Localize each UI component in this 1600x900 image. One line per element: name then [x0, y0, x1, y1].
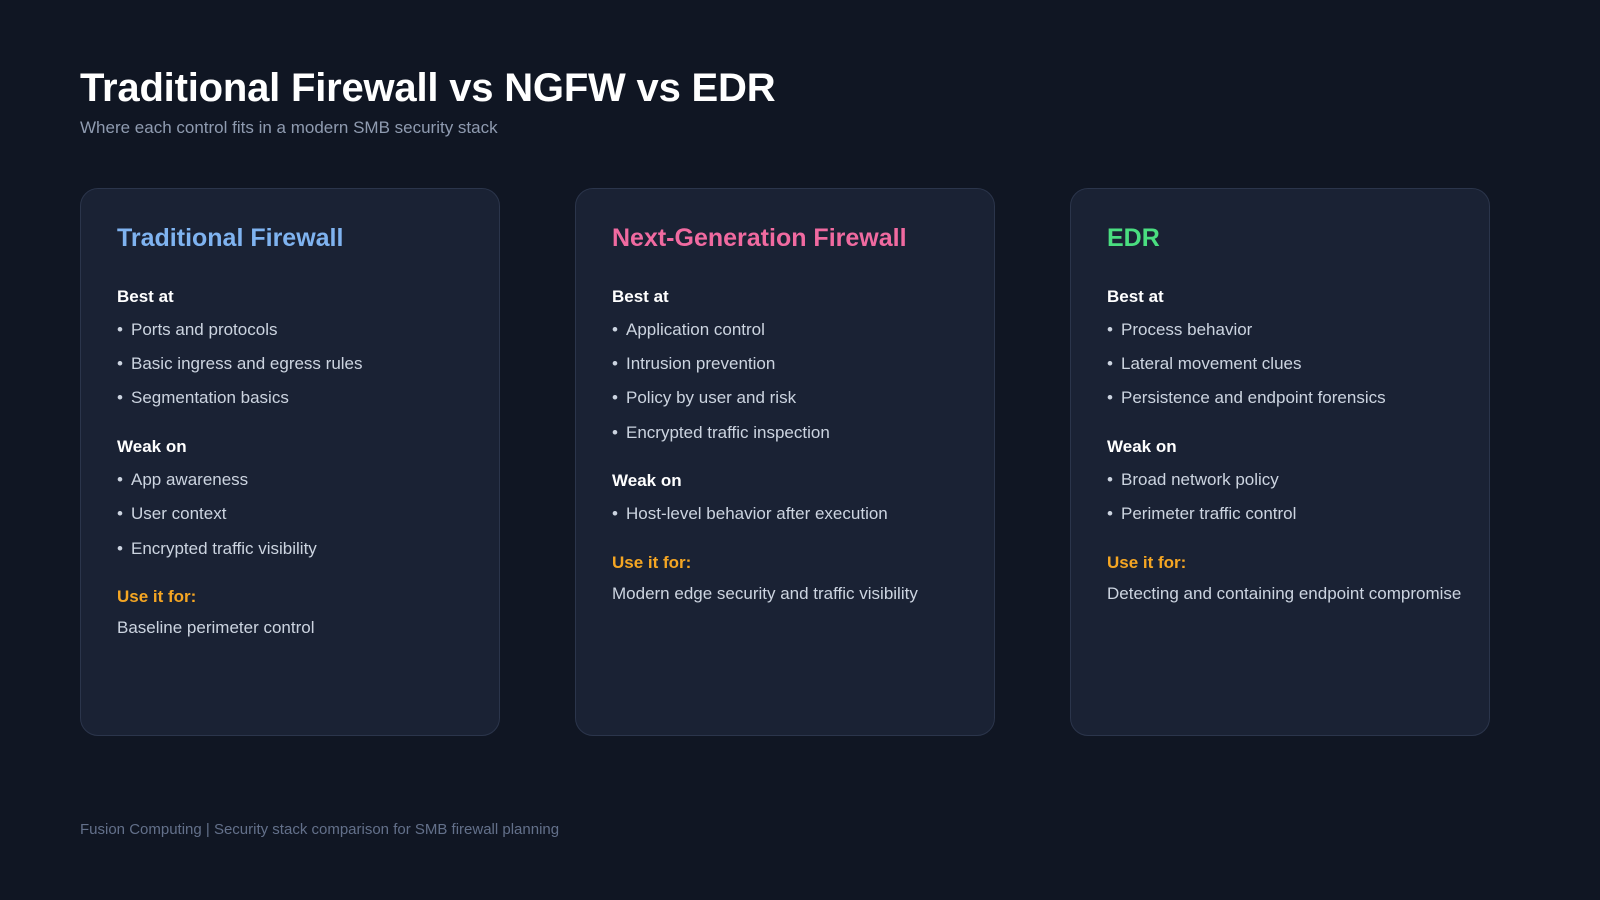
weak-on-list: •App awareness•User context•Encrypted tr…	[117, 469, 463, 559]
bullet-dot-icon: •	[612, 319, 626, 340]
page-subtitle: Where each control fits in a modern SMB …	[80, 118, 1520, 138]
bullet-dot-icon: •	[1107, 503, 1121, 524]
bullet-dot-icon: •	[612, 422, 626, 443]
bullet-dot-icon: •	[612, 503, 626, 524]
bullet-dot-icon: •	[612, 353, 626, 374]
slide-header: Traditional Firewall vs NGFW vs EDR Wher…	[80, 66, 1520, 138]
footer-note: Fusion Computing | Security stack compar…	[80, 820, 559, 840]
list-item: •Encrypted traffic inspection	[612, 422, 958, 443]
list-item-label: Perimeter traffic control	[1121, 504, 1296, 523]
use-it-for-block: Use it for:Detecting and containing endp…	[1107, 553, 1453, 605]
list-item: •Ports and protocols	[117, 319, 463, 340]
best-at-list: •Process behavior•Lateral movement clues…	[1107, 319, 1453, 409]
list-item-label: Encrypted traffic inspection	[626, 423, 830, 442]
list-item: •Segmentation basics	[117, 387, 463, 408]
bullet-dot-icon: •	[117, 538, 131, 559]
weak-on-heading: Weak on	[612, 471, 958, 491]
best-at-heading: Best at	[1107, 287, 1453, 307]
list-item: •Broad network policy	[1107, 469, 1453, 490]
bullet-dot-icon: •	[117, 319, 131, 340]
list-item-label: Host-level behavior after execution	[626, 504, 888, 523]
list-item-label: Encrypted traffic visibility	[131, 539, 317, 558]
list-item-label: Basic ingress and egress rules	[131, 354, 363, 373]
list-item-label: Persistence and endpoint forensics	[1121, 388, 1386, 407]
list-item-label: Intrusion prevention	[626, 354, 775, 373]
list-item: •App awareness	[117, 469, 463, 490]
weak-on-heading: Weak on	[1107, 437, 1453, 457]
list-item-label: Segmentation basics	[131, 388, 289, 407]
bullet-dot-icon: •	[117, 387, 131, 408]
list-item-label: Broad network policy	[1121, 470, 1279, 489]
list-item: •Persistence and endpoint forensics	[1107, 387, 1453, 408]
list-item: •Policy by user and risk	[612, 387, 958, 408]
list-item-label: Process behavior	[1121, 320, 1252, 339]
list-item: •Perimeter traffic control	[1107, 503, 1453, 524]
best-at-list: •Application control•Intrusion preventio…	[612, 319, 958, 443]
list-item-label: User context	[131, 504, 226, 523]
bullet-dot-icon: •	[1107, 319, 1121, 340]
bullet-dot-icon: •	[1107, 387, 1121, 408]
bullet-dot-icon: •	[117, 469, 131, 490]
slide-root: Traditional Firewall vs NGFW vs EDR Wher…	[0, 0, 1600, 900]
comparison-card: EDRBest at•Process behavior•Lateral move…	[1070, 188, 1490, 736]
use-it-for-label: Use it for:	[117, 587, 463, 607]
list-item-label: App awareness	[131, 470, 248, 489]
list-item: •Host-level behavior after execution	[612, 503, 958, 524]
weak-on-list: •Host-level behavior after execution	[612, 503, 958, 524]
weak-on-heading: Weak on	[117, 437, 463, 457]
use-it-for-text: Baseline perimeter control	[117, 617, 463, 638]
use-it-for-label: Use it for:	[612, 553, 958, 573]
bullet-dot-icon: •	[612, 387, 626, 408]
bullet-dot-icon: •	[117, 503, 131, 524]
list-item-label: Policy by user and risk	[626, 388, 796, 407]
bullet-dot-icon: •	[117, 353, 131, 374]
bullet-dot-icon: •	[1107, 353, 1121, 374]
list-item: •Encrypted traffic visibility	[117, 538, 463, 559]
list-item: •Application control	[612, 319, 958, 340]
use-it-for-block: Use it for:Baseline perimeter control	[117, 587, 463, 639]
list-item: •Lateral movement clues	[1107, 353, 1453, 374]
list-item-label: Lateral movement clues	[1121, 354, 1301, 373]
use-it-for-block: Use it for:Modern edge security and traf…	[612, 553, 958, 605]
best-at-heading: Best at	[612, 287, 958, 307]
list-item-label: Application control	[626, 320, 765, 339]
best-at-heading: Best at	[117, 287, 463, 307]
list-item: •Process behavior	[1107, 319, 1453, 340]
card-title: Traditional Firewall	[117, 225, 463, 253]
list-item: •Basic ingress and egress rules	[117, 353, 463, 374]
use-it-for-label: Use it for:	[1107, 553, 1453, 573]
comparison-card: Traditional FirewallBest at•Ports and pr…	[80, 188, 500, 736]
weak-on-list: •Broad network policy•Perimeter traffic …	[1107, 469, 1453, 525]
list-item: •User context	[117, 503, 463, 524]
best-at-list: •Ports and protocols•Basic ingress and e…	[117, 319, 463, 409]
card-title: EDR	[1107, 225, 1453, 253]
bullet-dot-icon: •	[1107, 469, 1121, 490]
card-title: Next-Generation Firewall	[612, 225, 958, 253]
use-it-for-text: Modern edge security and traffic visibil…	[612, 583, 958, 604]
list-item: •Intrusion prevention	[612, 353, 958, 374]
comparison-card: Next-Generation FirewallBest at•Applicat…	[575, 188, 995, 736]
use-it-for-text: Detecting and containing endpoint compro…	[1107, 583, 1453, 604]
page-title: Traditional Firewall vs NGFW vs EDR	[80, 66, 1520, 110]
comparison-card-row: Traditional FirewallBest at•Ports and pr…	[80, 188, 1490, 736]
list-item-label: Ports and protocols	[131, 320, 277, 339]
